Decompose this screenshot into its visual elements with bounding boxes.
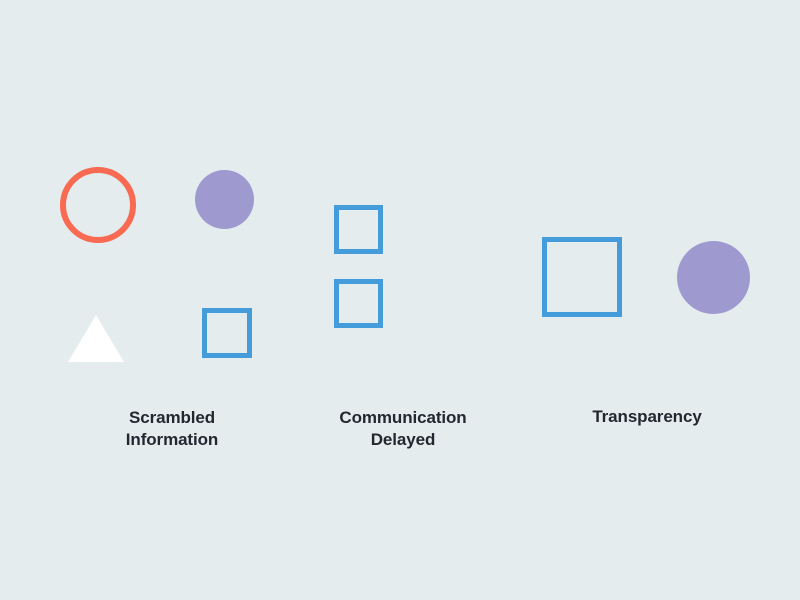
red-circle-outline-icon — [60, 167, 136, 243]
group-label-transparency: Transparency — [517, 406, 777, 428]
purple-circle-filled-large-icon — [677, 241, 750, 314]
infographic-canvas: Scrambled Information Communication Dela… — [0, 0, 800, 600]
group-label-scrambled-information: Scrambled Information — [42, 407, 302, 451]
blue-square-outline-small-icon — [202, 308, 252, 358]
blue-square-outline-upper-icon — [334, 205, 383, 254]
purple-circle-filled-icon — [195, 170, 254, 229]
blue-square-outline-lower-icon — [334, 279, 383, 328]
white-triangle-icon — [68, 315, 124, 362]
group-label-communication-delayed: Communication Delayed — [273, 407, 533, 451]
blue-square-outline-large-icon — [542, 237, 622, 317]
